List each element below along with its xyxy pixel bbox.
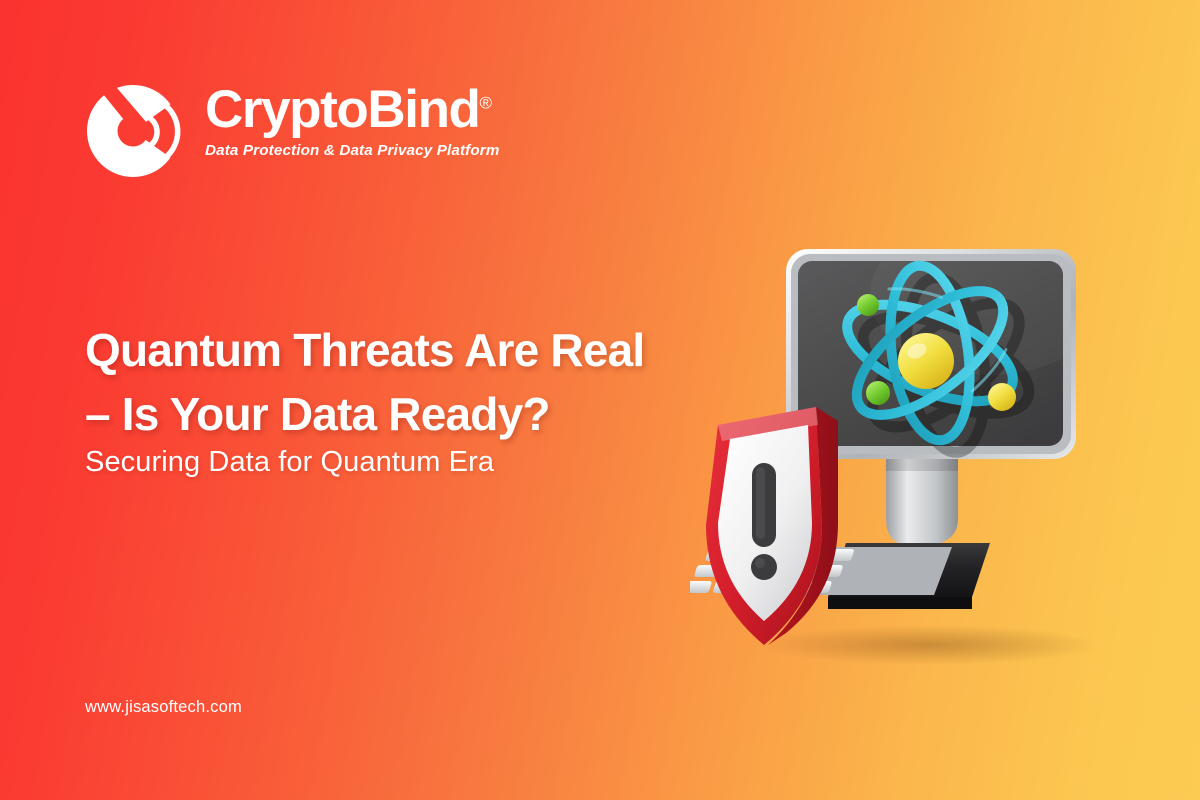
headline-line-1: Quantum Threats Are Real [85,318,785,382]
logo-tagline: Data Protection & Data Privacy Platform [205,142,500,159]
atom-electron-green-2 [866,381,890,405]
page-subtitle: Securing Data for Quantum Era [85,446,494,479]
logo-wordmark: CryptoBind® [205,83,500,137]
illustration-shadow [760,625,1100,665]
shield-alert-icon [706,407,838,645]
website-url[interactable]: www.jisasoftech.com [85,698,242,717]
atom-electron-yellow [988,383,1016,411]
monitor-stand [886,459,958,543]
quantum-security-illustration [690,225,1150,665]
logo-wordmark-bind: Bind [367,80,479,139]
registered-trademark-symbol: ® [480,93,493,112]
exclamation-dot [751,554,777,580]
atom-nucleus [898,333,954,389]
atom-electron-green-1 [857,294,879,316]
brand-logo[interactable]: CryptoBind® Data Protection & Data Priva… [85,75,500,183]
logo-wordmark-crypto: Crypto [205,80,367,139]
page-title: Quantum Threats Are Real – Is Your Data … [85,318,785,446]
cryptobind-circular-c-mark-icon [85,79,189,183]
headline-line-2: – Is Your Data Ready? [85,382,785,446]
marketing-banner: CryptoBind® Data Protection & Data Priva… [0,0,1200,800]
